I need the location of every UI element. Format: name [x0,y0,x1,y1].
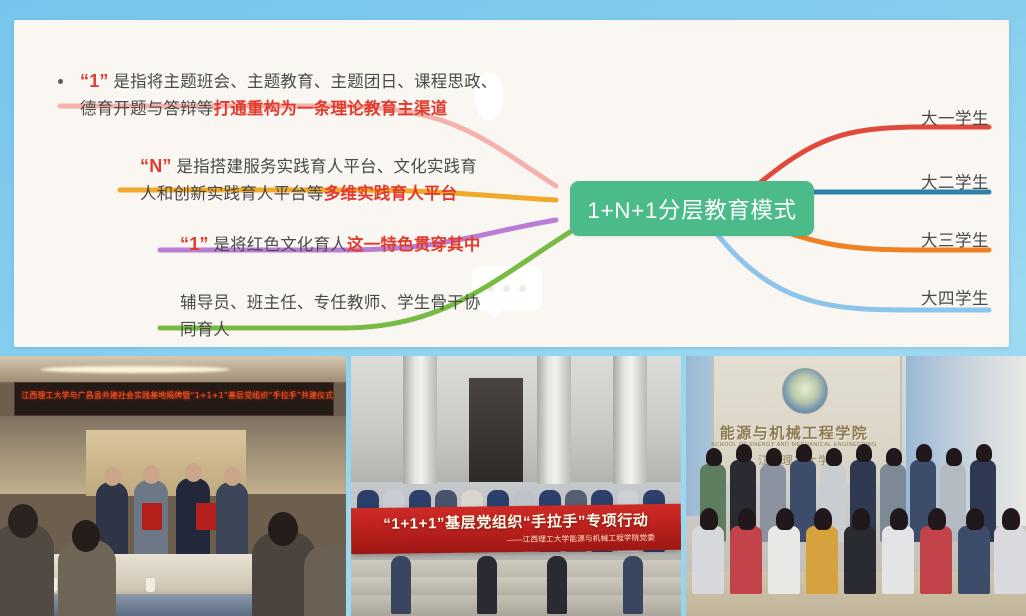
person-front [477,556,497,614]
person [216,482,248,554]
branch-text-2-line1: “N” 是指搭建服务实践育人平台、文化实践育 [140,153,477,181]
red-certificate [196,503,216,530]
person-hair [706,448,722,466]
photo-strip: 江西理工大学与广昌县共建社会实践基地揭牌暨“1+1+1”基层党组织“手拉手”共建… [0,356,1026,616]
person-hair [736,444,752,462]
branch-1-line2-rest: 德育开题与答辩等 [80,100,214,118]
branch-text-1-line2: 德育开题与答辩等打通重构为一条理论教育主渠道 [80,96,498,123]
person-seated [730,526,762,594]
photo-signing-ceremony: 江西理工大学与广昌县共建社会实践基地揭牌暨“1+1+1”基层党组织“手拉手”共建… [0,356,346,616]
school-sign-chinese: 能源与机械工程学院 [686,422,902,443]
entrance-door [469,378,523,482]
person-front [623,556,643,614]
ceiling-light [40,366,230,373]
branch-text-2-line2: 人和创新实践育人平台等多维实践育人平台 [140,181,477,208]
right-branch-label-1: 大一学生 [921,108,989,130]
led-banner-text: 江西理工大学与广昌县共建社会实践基地揭牌暨“1+1+1”基层党组织“手拉手”共建… [21,389,326,401]
person-hair [700,508,718,530]
branch-text-4: 辅导员、班主任、专任教师、学生骨干协 同育人 [180,290,481,344]
person-front [547,556,567,614]
branch-text-4-line1: 辅导员、班主任、专任教师、学生骨干协 [180,290,481,317]
person-hair [796,444,812,462]
branch-2-highlight: 多维实践育人平台 [324,185,458,203]
right-branch-label-4: 大四学生 [921,288,989,310]
right-branch-label-2: 大二学生 [921,172,989,194]
person-hair [976,444,992,462]
person-head [224,467,241,486]
person-hair [946,448,962,466]
audience-head [72,520,100,552]
audience-person [304,546,346,616]
person-head [104,467,121,486]
branch-text-3-line1: “1” 是将红色文化育人这一特色贯穿其中 [180,231,481,259]
banner-subtitle: ——江西理工大学能源与机械工程学院党委 [507,532,655,545]
branch-4-line2-rest: 同育人 [180,321,230,339]
person-head [143,465,160,484]
person-hair [966,508,984,530]
branch-2-keyword: “N” [140,156,172,176]
branch-3-keyword: “1” [180,234,209,254]
branch-text-1-line1: “1” 是指将主题班会、主题教育、主题团日、课程思政、 [80,68,498,96]
banner-title: “1+1+1”基层党组织“手拉手”专项行动 [351,509,681,535]
red-certificate [142,503,162,530]
person-hair [826,448,842,466]
person-hair [890,508,908,530]
person-hair [738,508,756,530]
branch-4-line1-rest: 辅导员、班主任、专任教师、学生骨干协 [180,294,481,312]
person-seated [844,526,876,594]
audience-person [0,524,54,616]
person-seated [806,526,838,594]
column [613,356,647,484]
person-hair [776,508,794,530]
branch-text-3: “1” 是将红色文化育人这一特色贯穿其中 [180,231,481,259]
person-seated [768,526,800,594]
audience-head [268,512,298,546]
person-hair [856,444,872,462]
person-seated [994,526,1026,594]
person-hair [852,508,870,530]
school-emblem-icon [782,368,828,414]
person-hair [766,448,782,466]
branch-text-2: “N” 是指搭建服务实践育人平台、文化实践育 人和创新实践育人平台等多维实践育人… [140,153,477,208]
column [537,356,571,484]
branch-1-line1-rest: 是指将主题班会、主题教育、主题团日、课程思政、 [109,73,498,91]
person-front [391,556,411,614]
column [403,356,437,484]
person-hair [916,444,932,462]
branch-2-line1-rest: 是指搭建服务实践育人平台、文化实践育 [172,158,477,176]
audience-head [8,504,38,538]
photo-group-banner: “1+1+1”基层党组织“手拉手”专项行动 ——江西理工大学能源与机械工程学院党… [351,356,681,616]
photo-school-hall-group: 能源与机械工程学院 SCHOOL OF ENERGY AND MECHANICA… [686,356,1026,616]
person-seated [920,526,952,594]
water-cup [146,578,155,592]
person-seated [882,526,914,594]
person-hair [928,508,946,530]
person-hair [814,508,832,530]
right-branch-label-3: 大三学生 [921,230,989,252]
person-hair [886,448,902,466]
branch-1-keyword: “1” [80,71,109,91]
branch-3-line1-rest: 是将红色文化育人 [209,236,347,254]
led-banner-panel: 江西理工大学与广昌县共建社会实践基地揭牌暨“1+1+1”基层党组织“手拉手”共建… [14,382,334,416]
red-banner: “1+1+1”基层党组织“手拉手”专项行动 ——江西理工大学能源与机械工程学院党… [351,504,681,555]
branch-1-highlight: 打通重构为一条理论教育主渠道 [214,100,448,118]
branch-3-highlight: 这一特色贯穿其中 [347,236,481,254]
person-seated [958,526,990,594]
branch-2-line2-rest: 人和创新实践育人平台等 [140,185,324,203]
person-hair [1002,508,1020,530]
person-seated [692,526,724,594]
branch-text-1: “1” 是指将主题班会、主题教育、主题团日、课程思政、 德育开题与答辩等打通重构… [80,68,498,123]
branch-text-4-line2: 同育人 [180,317,481,344]
person-head [185,463,202,482]
bullet-dot-icon [58,79,63,84]
center-node: 1+N+1分层教育模式 [570,181,814,236]
mindmap-card: “1” 是指将主题班会、主题教育、主题团日、课程思政、 德育开题与答辩等打通重构… [14,20,1009,347]
